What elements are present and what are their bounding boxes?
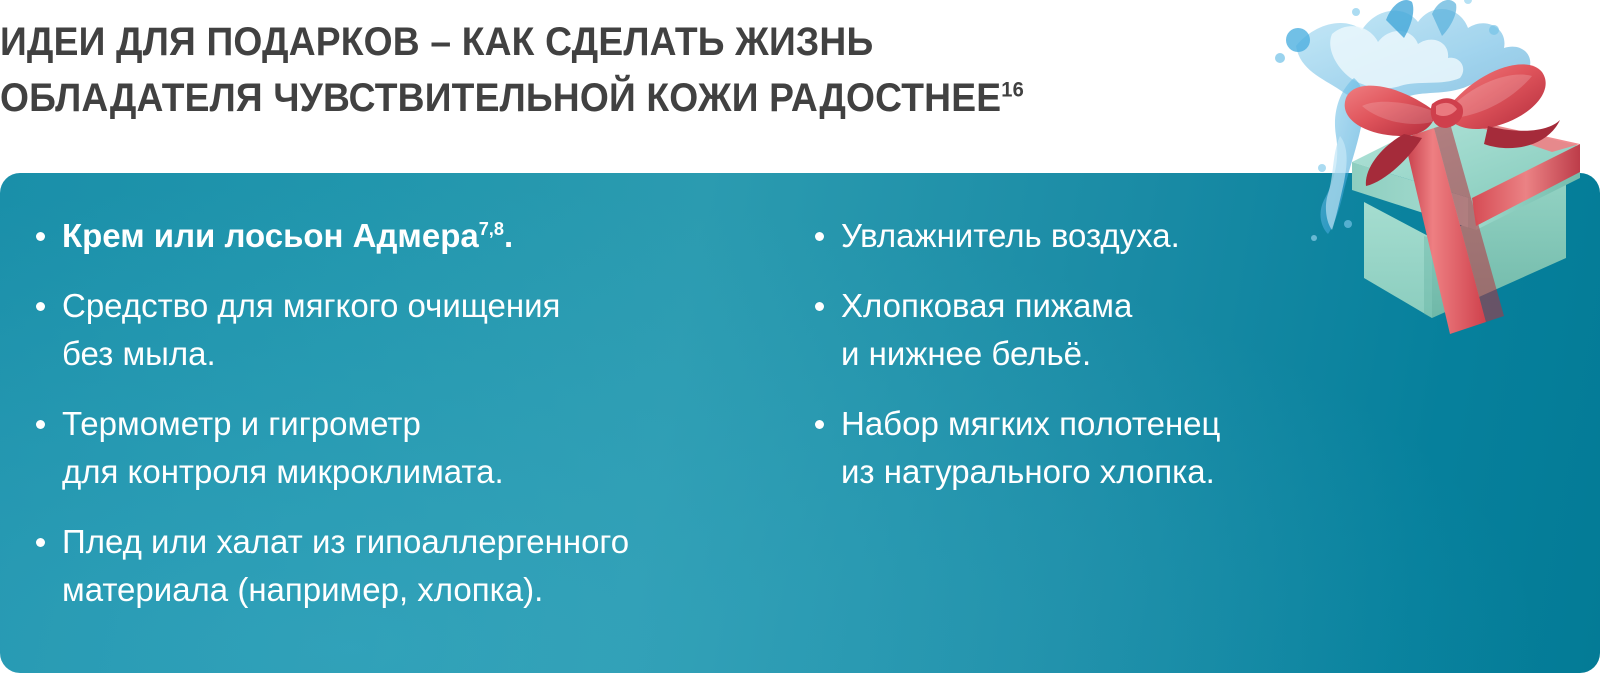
list-item-label: Набор мягких полотенец из натурального х… [841, 400, 1375, 496]
page-title-line-2-text: ОБЛАДАТЕЛЯ ЧУВСТВИТЕЛЬНОЙ КОЖИ РАДОСТНЕЕ [0, 76, 1001, 120]
gift-list-right-column: Увлажнитель воздуха. Хлопковая пижама и … [815, 212, 1375, 496]
list-item-label: Термометр и гигрометр для контроля микро… [62, 400, 816, 496]
list-item: Набор мягких полотенец из натурального х… [815, 400, 1375, 496]
bullet-dot-icon [36, 538, 45, 547]
list-item: Плед или халат из гипоаллергенного матер… [36, 518, 816, 614]
list-item: Увлажнитель воздуха. [815, 212, 1375, 260]
bullet-dot-icon [815, 232, 824, 241]
list-item-reference: 7,8 [479, 219, 504, 239]
page-title-reference: 16 [1001, 77, 1024, 102]
list-item: Крем или лосьон Адмера7,8. [36, 212, 816, 260]
list-item: Средство для мягкого очищения без мыла. [36, 282, 816, 378]
list-item-label: Увлажнитель воздуха. [841, 212, 1375, 260]
bullet-dot-icon [815, 302, 824, 311]
gift-list-left-column: Крем или лосьон Адмера7,8. Средство для … [36, 212, 816, 614]
bullet-dot-icon [815, 420, 824, 429]
list-item-text: Крем или лосьон Адмера [62, 217, 479, 254]
page-title-line-2: ОБЛАДАТЕЛЯ ЧУВСТВИТЕЛЬНОЙ КОЖИ РАДОСТНЕЕ… [0, 70, 1172, 126]
list-item-suffix: . [504, 217, 513, 254]
bullet-dot-icon [36, 420, 45, 429]
bullet-dot-icon [36, 302, 45, 311]
list-item-label: Плед или халат из гипоаллергенного матер… [62, 518, 816, 614]
page-title: ИДЕИ ДЛЯ ПОДАРКОВ – КАК СДЕЛАТЬ ЖИЗНЬ ОБ… [0, 14, 1172, 126]
list-item: Хлопковая пижама и нижнее бельё. [815, 282, 1375, 378]
list-item: Термометр и гигрометр для контроля микро… [36, 400, 816, 496]
list-item-label: Средство для мягкого очищения без мыла. [62, 282, 816, 378]
page-title-line-1: ИДЕИ ДЛЯ ПОДАРКОВ – КАК СДЕЛАТЬ ЖИЗНЬ [0, 14, 1172, 70]
bullet-dot-icon [36, 232, 45, 241]
list-item-label: Крем или лосьон Адмера7,8. [62, 212, 816, 260]
gift-ideas-infographic: ИДЕИ ДЛЯ ПОДАРКОВ – КАК СДЕЛАТЬ ЖИЗНЬ ОБ… [0, 0, 1600, 686]
list-item-label: Хлопковая пижама и нижнее бельё. [841, 282, 1375, 378]
bow-icon [1345, 64, 1560, 186]
